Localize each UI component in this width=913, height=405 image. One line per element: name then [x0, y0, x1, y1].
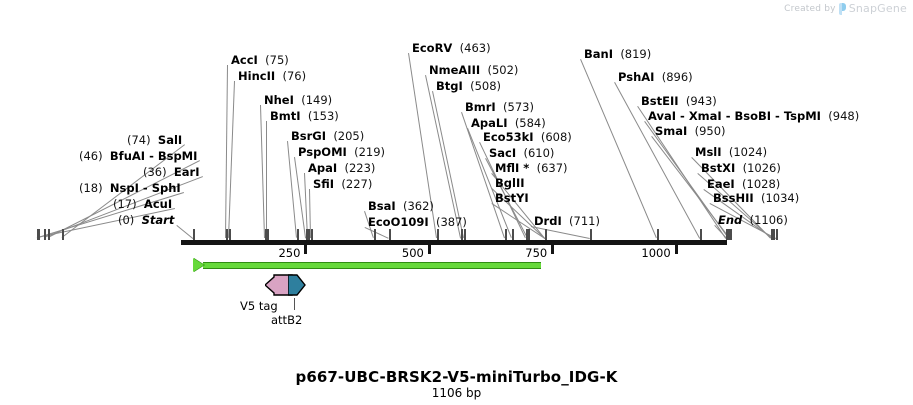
attb2-arrow-icon — [288, 274, 306, 296]
cut-site-tick — [590, 229, 592, 240]
cut-site-tick — [464, 229, 466, 240]
site-label-mfli[interactable]: MflI * (637) — [495, 162, 568, 174]
enzyme-separator: - — [722, 109, 735, 123]
site-label-acui[interactable]: (17) AcuI — [113, 198, 172, 210]
site-label-pspomi[interactable]: PspOMI (219) — [298, 146, 385, 158]
spacer — [722, 145, 729, 159]
spacer — [562, 214, 569, 228]
enzyme-name: EaeI — [707, 177, 735, 191]
enzyme-name: MslI — [695, 145, 722, 159]
site-label-bfuai[interactable]: (46) BfuAI - BspMI — [79, 150, 197, 162]
enzyme-name: TspMI — [784, 109, 821, 123]
enzyme-separator: - — [676, 109, 689, 123]
cut-site-tick — [461, 229, 463, 240]
orf-arrow-head — [193, 258, 204, 272]
enzyme-name: Eco53kI — [483, 130, 534, 144]
attb2-leader-tick — [294, 298, 295, 310]
site-position: (205) — [333, 129, 364, 143]
site-position: (608) — [541, 130, 572, 144]
cut-site-tick — [700, 229, 702, 240]
spacer — [429, 215, 436, 229]
enzyme-name: EarI — [174, 165, 200, 179]
enzyme-separator: - — [139, 181, 152, 195]
orf-arrow-body — [203, 262, 541, 269]
enzyme-name: SphI — [152, 181, 181, 195]
enzyme-separator: - — [771, 109, 784, 123]
site-position: (711) — [569, 214, 600, 228]
site-label-eaei[interactable]: EaeI (1028) — [707, 178, 780, 190]
spacer — [452, 41, 459, 55]
cut-site-tick — [545, 229, 547, 240]
enzyme-name: BfuAI — [110, 149, 145, 163]
site-position: (223) — [344, 161, 375, 175]
enzyme-name: PspOMI — [298, 145, 347, 159]
site-label-btgi[interactable]: BtgI (508) — [436, 80, 501, 92]
spacer — [463, 79, 470, 93]
site-label-nhei[interactable]: NheI (149) — [264, 94, 332, 106]
cut-site-tick — [311, 229, 313, 240]
site-position: (896) — [662, 70, 693, 84]
enzyme-name: End — [718, 213, 742, 227]
enzyme-name: Start — [142, 213, 175, 227]
cut-site-tick — [308, 229, 310, 240]
enzyme-name: AcuI — [144, 197, 172, 211]
site-position: (948) — [828, 109, 859, 123]
enzyme-name: ApaI — [308, 161, 337, 175]
enzyme-name: SmaI — [655, 124, 687, 138]
site-position: (943) — [686, 94, 717, 108]
cut-site-tick — [505, 229, 507, 240]
enzyme-name: BglII — [495, 176, 525, 190]
enzyme-name: BmrI — [465, 100, 496, 114]
site-label-hincii[interactable]: HincII (76) — [238, 70, 306, 82]
ruler-bar — [181, 240, 727, 245]
site-label-bsteii[interactable]: BstEII (943) — [641, 95, 717, 107]
leader-line — [580, 59, 657, 238]
spacer — [742, 213, 749, 227]
site-label-apali[interactable]: ApaLI (584) — [471, 117, 546, 129]
ruler-tick-1000 — [675, 245, 678, 254]
cut-site-tick — [528, 229, 530, 240]
site-label-smai[interactable]: SmaI (950) — [655, 125, 726, 137]
enzyme-name: HincII — [238, 69, 275, 83]
site-position: (219) — [354, 145, 385, 159]
enzyme-name: EcoO109I — [368, 215, 429, 229]
enzyme-name: BsrGI — [291, 129, 326, 143]
watermark-brand: SnapGene — [849, 2, 907, 15]
site-label-eari[interactable]: (36) EarI — [143, 166, 200, 178]
leader-line — [425, 75, 461, 238]
page-title: p667-UBC-BRSK2-V5-miniTurbo_IDG-K — [0, 368, 913, 386]
enzyme-name: ApaLI — [471, 116, 508, 130]
site-label-bglii[interactable]: BglII — [495, 177, 525, 189]
cut-site-tick — [267, 229, 269, 240]
site-position: (584) — [515, 116, 546, 130]
enzyme-name: SfiI — [313, 177, 334, 191]
site-label-bsshii[interactable]: BssHII (1034) — [713, 192, 799, 204]
leader-line — [176, 225, 193, 239]
feature-attb2[interactable] — [288, 274, 306, 296]
site-position: (1106) — [750, 213, 788, 227]
enzyme-name: PshAI — [618, 70, 654, 84]
spacer — [134, 213, 141, 227]
enzyme-name: NmeAIII — [429, 63, 480, 77]
site-position: (153) — [308, 109, 339, 123]
enzyme-name: BssHII — [713, 191, 754, 205]
site-label-avai[interactable]: AvaI - XmaI - BsoBI - TspMI (948) — [648, 110, 859, 122]
site-label-bmti[interactable]: BmtI (153) — [270, 110, 339, 122]
site-position: (1034) — [761, 191, 799, 205]
feature-label-v5-tag: V5 tag — [240, 299, 278, 313]
cut-site-tick — [193, 229, 195, 240]
spacer — [167, 165, 174, 179]
plasmid-linear-map: Created by SnapGene (74) SalI(46) BfuAI … — [0, 0, 913, 405]
spacer — [754, 191, 761, 205]
enzyme-name: EcoRV — [412, 41, 452, 55]
spacer — [496, 100, 503, 114]
cut-site-tick — [48, 229, 50, 240]
site-position: (463) — [460, 41, 491, 55]
enzyme-name: AvaI — [648, 109, 676, 123]
ruler-tick-500 — [428, 245, 431, 254]
enzyme-name: BspMI — [158, 149, 198, 163]
enzyme-separator: - — [145, 149, 158, 163]
spacer — [396, 199, 403, 213]
site-label-ecorv[interactable]: EcoRV (463) — [412, 42, 491, 54]
site-position: (637) — [537, 161, 568, 175]
site-label-apai[interactable]: ApaI (223) — [308, 162, 375, 174]
site-position: (36) — [143, 165, 167, 179]
enzyme-name: BmtI — [270, 109, 301, 123]
spacer — [654, 70, 661, 84]
watermark-created-by: Created by — [784, 4, 836, 14]
cut-site-tick — [657, 229, 659, 240]
site-label-bsrgi[interactable]: BsrGI (205) — [291, 130, 364, 142]
site-position: (149) — [301, 93, 332, 107]
cut-site-tick — [297, 229, 299, 240]
site-label-saci[interactable]: SacI (610) — [489, 147, 554, 159]
site-position: (950) — [695, 124, 726, 138]
cut-site-tick — [226, 229, 228, 240]
site-label-ecoo109i[interactable]: EcoO109I (387) — [368, 216, 467, 228]
enzyme-name: BstXI — [701, 161, 735, 175]
ruler-tick-750 — [551, 245, 554, 254]
site-position: (610) — [523, 146, 554, 160]
enzyme-name: BanI — [584, 47, 613, 61]
enzyme-name: SalI — [158, 133, 182, 147]
enzyme-name: BstEII — [641, 94, 679, 108]
site-position: (227) — [341, 177, 372, 191]
ruler-tick-label: 1000 — [613, 246, 671, 260]
site-position: (508) — [470, 79, 501, 93]
site-label-bani[interactable]: BanI (819) — [584, 48, 651, 60]
cut-site-tick — [727, 229, 729, 240]
site-position: (502) — [487, 63, 518, 77]
cut-site-tick — [37, 229, 39, 240]
enzyme-name: XmaI — [689, 109, 722, 123]
site-position: (573) — [503, 100, 534, 114]
cut-site-tick — [437, 229, 439, 240]
leader-line — [225, 65, 228, 238]
spacer — [735, 161, 742, 175]
site-label-pshai[interactable]: PshAI (896) — [618, 71, 693, 83]
leader-line — [228, 81, 235, 238]
leader-line — [260, 105, 265, 238]
site-label-start[interactable]: (0) Start — [118, 214, 174, 226]
enzyme-name: AccI — [231, 53, 258, 67]
cut-site-tick — [389, 229, 391, 240]
enzyme-name: SacI — [489, 146, 516, 160]
site-position: (76) — [282, 69, 306, 83]
cut-site-tick — [730, 229, 732, 240]
cut-site-tick — [44, 229, 46, 240]
site-label-bstxi[interactable]: BstXI (1026) — [701, 162, 781, 174]
site-position: (1028) — [742, 177, 780, 191]
sequence-length-label: 1106 bp — [0, 386, 913, 400]
spacer — [534, 130, 541, 144]
feature-label-attb2: attB2 — [271, 313, 302, 327]
leader-line — [287, 141, 297, 238]
site-position: (362) — [403, 199, 434, 213]
cut-site-tick — [374, 229, 376, 240]
site-label-msli[interactable]: MslI (1024) — [695, 146, 767, 158]
site-position: (75) — [265, 53, 289, 67]
site-label-sali[interactable]: (74) SalI — [127, 134, 182, 146]
enzyme-name: BstYI — [495, 191, 529, 205]
spacer — [508, 116, 515, 130]
spacer — [103, 149, 110, 163]
site-label-bsai[interactable]: BsaI (362) — [368, 200, 434, 212]
site-label-bstyi[interactable]: BstYI — [495, 192, 529, 204]
cut-site-tick — [512, 229, 514, 240]
site-position: (1024) — [729, 145, 767, 159]
site-label-nmeaiii[interactable]: NmeAIII (502) — [429, 64, 518, 76]
leader-line — [266, 121, 267, 238]
site-label-acci[interactable]: AccI (75) — [231, 54, 289, 66]
site-label-sfii[interactable]: SfiI (227) — [313, 178, 372, 190]
enzyme-name: BsoBI — [734, 109, 771, 123]
site-position: (1026) — [743, 161, 781, 175]
site-label-end[interactable]: End (1106) — [718, 214, 788, 226]
site-label-bmri[interactable]: BmrI (573) — [465, 101, 534, 113]
site-position: (387) — [436, 215, 467, 229]
site-label-nspi[interactable]: (18) NspI - SphI — [79, 182, 181, 194]
ruler-tick-250 — [304, 245, 307, 254]
snapgene-watermark: Created by SnapGene — [784, 2, 907, 15]
spacer — [137, 197, 144, 211]
enzyme-name: MflI * — [495, 161, 529, 175]
spacer — [529, 161, 536, 175]
orf-arrow — [193, 258, 541, 272]
site-position: (18) — [79, 181, 103, 195]
enzyme-name: BsaI — [368, 199, 396, 213]
site-label-drdi[interactable]: DrdI (711) — [534, 215, 600, 227]
spacer — [103, 181, 110, 195]
site-position: (0) — [118, 213, 134, 227]
site-position: (74) — [127, 133, 151, 147]
snapgene-logo-icon — [839, 3, 846, 15]
site-position: (46) — [79, 149, 103, 163]
cut-site-tick — [229, 229, 231, 240]
enzyme-name: BtgI — [436, 79, 463, 93]
spacer — [151, 133, 158, 147]
cut-site-tick — [62, 229, 64, 240]
site-position: (17) — [113, 197, 137, 211]
enzyme-name: NheI — [264, 93, 294, 107]
cut-site-tick — [776, 229, 778, 240]
spacer — [735, 177, 742, 191]
site-position: (819) — [620, 47, 651, 61]
cut-site-tick — [773, 229, 775, 240]
enzyme-name: DrdI — [534, 214, 562, 228]
spacer — [687, 124, 694, 138]
enzyme-name: NspI — [110, 181, 139, 195]
site-label-eco53ki[interactable]: Eco53kI (608) — [483, 131, 572, 143]
spacer — [679, 94, 686, 108]
spacer — [301, 109, 308, 123]
